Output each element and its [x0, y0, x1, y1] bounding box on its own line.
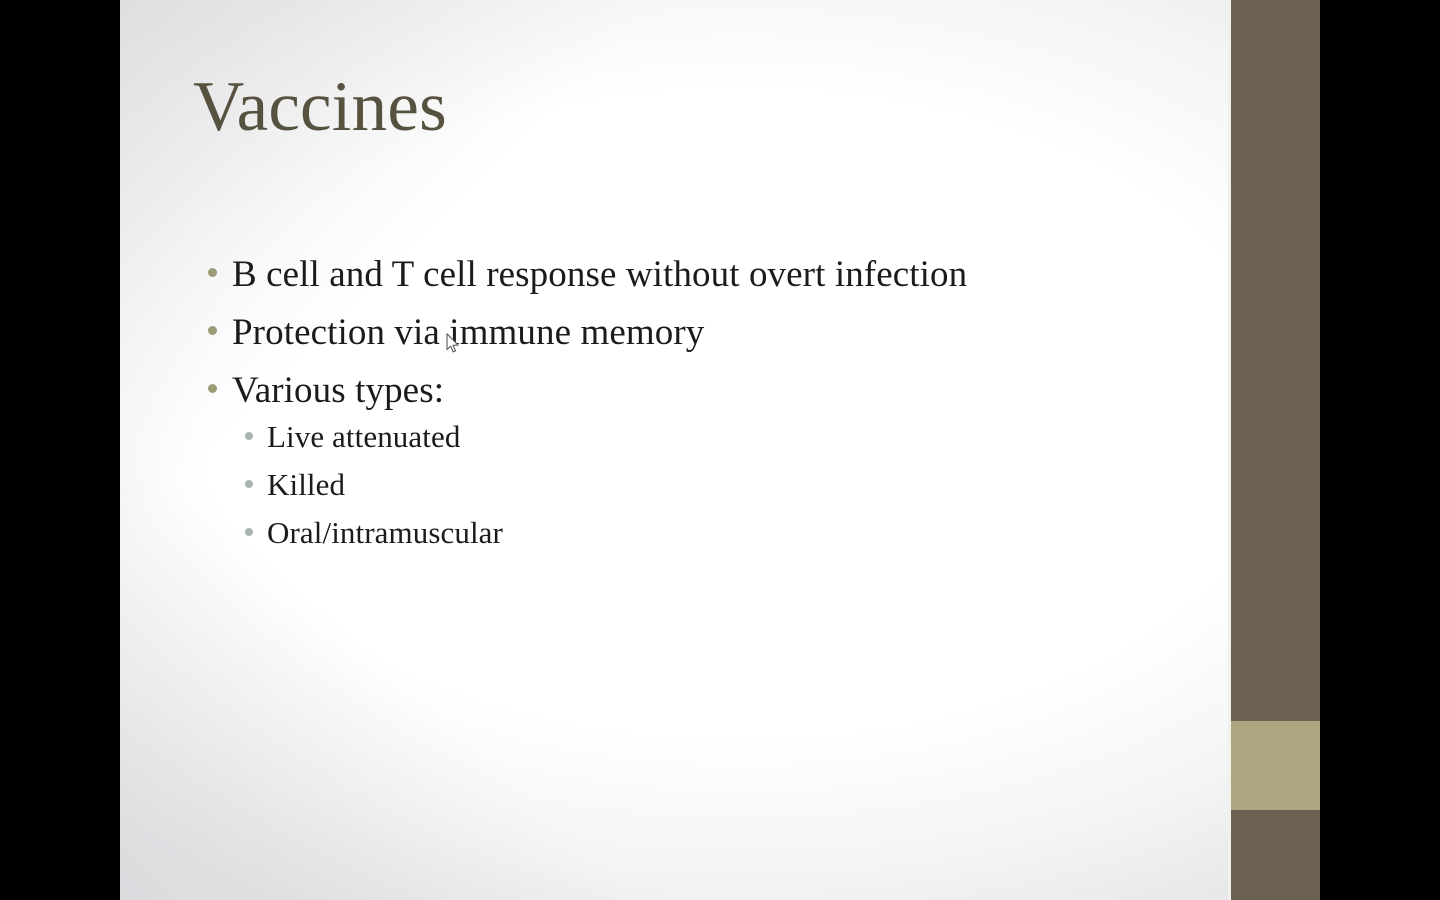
slide-title: Vaccines	[193, 72, 447, 143]
sub-bullet-dot-icon	[245, 480, 253, 488]
sub-bullet-dot-icon	[245, 528, 253, 536]
bullet-text: Protection via immune memory	[232, 314, 704, 351]
sub-bullet-item: Oral/intramuscular	[245, 517, 503, 548]
sub-bullet-text: Oral/intramuscular	[267, 517, 503, 548]
bullet-text: Various types:	[232, 372, 444, 409]
presentation-viewport: Vaccines B cell and T cell response with…	[0, 0, 1440, 900]
bullet-dot-icon	[208, 326, 217, 335]
sub-bullet-text: Live attenuated	[267, 421, 460, 452]
bullet-dot-icon	[208, 384, 217, 393]
sub-bullet-text: Killed	[267, 469, 345, 500]
letterbox-bar-left	[0, 0, 120, 900]
bullet-item: Protection via immune memory	[208, 314, 704, 351]
bullet-item: Various types:	[208, 372, 444, 409]
bullet-text: B cell and T cell response without overt…	[232, 256, 967, 293]
bullet-dot-icon	[208, 268, 217, 277]
slide-canvas[interactable]: Vaccines B cell and T cell response with…	[120, 0, 1320, 900]
sub-bullet-dot-icon	[245, 432, 253, 440]
bullet-item: B cell and T cell response without overt…	[208, 256, 967, 293]
sub-bullet-item: Live attenuated	[245, 421, 460, 452]
letterbox-bar-right	[1320, 0, 1440, 900]
sub-bullet-item: Killed	[245, 469, 345, 500]
slide-content: Vaccines B cell and T cell response with…	[120, 0, 1320, 900]
